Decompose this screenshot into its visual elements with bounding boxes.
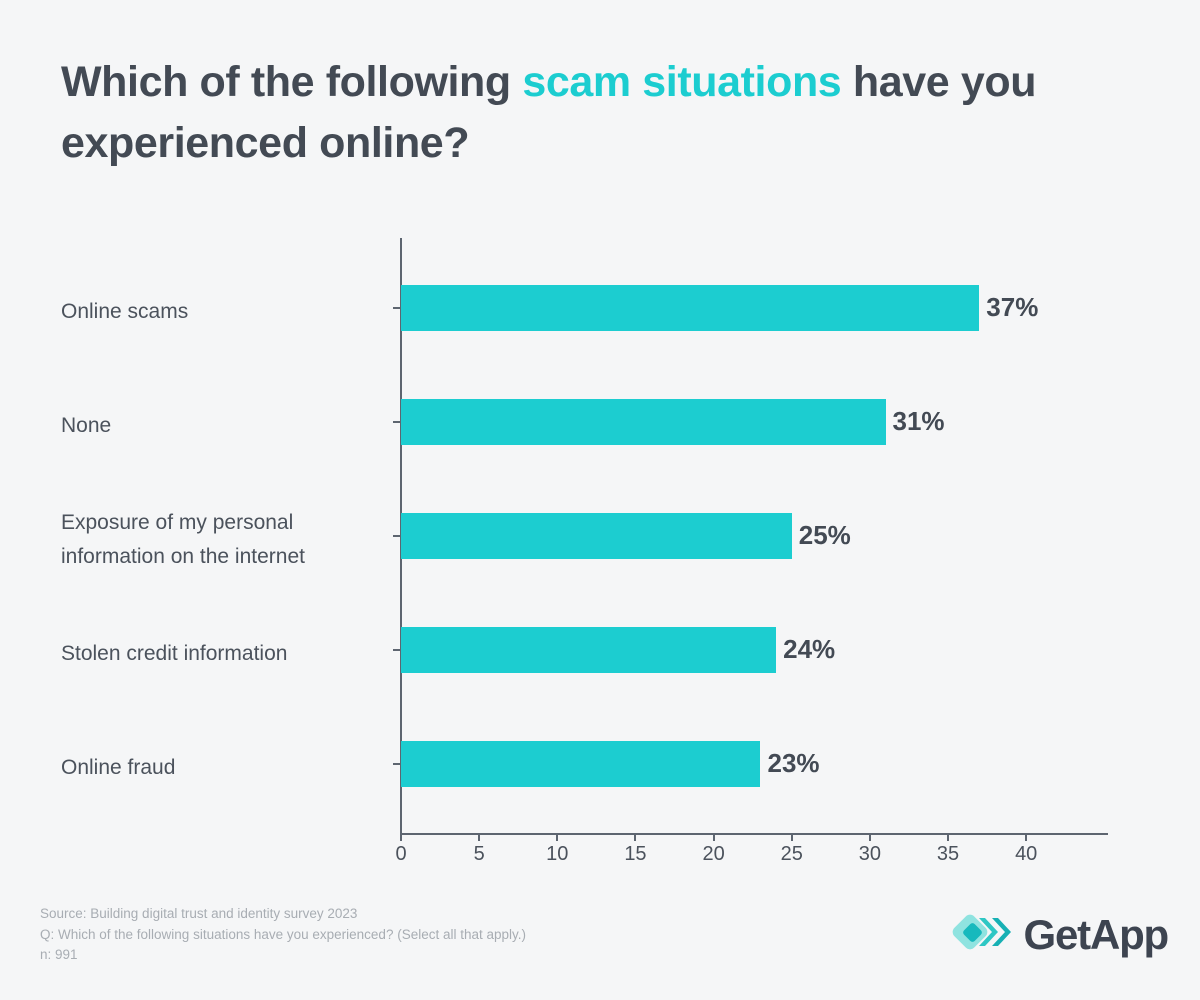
category-label: None — [61, 409, 391, 443]
x-tick-mark — [947, 833, 949, 841]
bar — [401, 513, 792, 559]
bar-value-label: 25% — [799, 520, 851, 551]
x-tick-mark — [1025, 833, 1027, 841]
x-tick-mark — [556, 833, 558, 841]
category-tick — [393, 649, 401, 651]
x-tick-label: 25 — [781, 843, 803, 866]
bar — [401, 399, 886, 445]
category-tick — [393, 307, 401, 309]
x-tick-label: 0 — [395, 843, 406, 866]
bar-row: Stolen credit information24% — [0, 627, 1200, 673]
x-tick-label: 40 — [1015, 843, 1037, 866]
category-label: Stolen credit information — [61, 637, 391, 671]
footnote-question: Q: Which of the following situations hav… — [40, 925, 526, 946]
x-tick-label: 30 — [859, 843, 881, 866]
category-tick — [393, 421, 401, 423]
x-axis-line — [400, 833, 1108, 835]
footnote: Source: Building digital trust and ident… — [40, 904, 526, 966]
x-tick-mark — [400, 833, 402, 841]
category-label: Exposure of my personal information on t… — [61, 506, 391, 573]
category-label: Online scams — [61, 295, 391, 329]
bar-value-label: 37% — [986, 292, 1038, 323]
bar-row: Online scams37% — [0, 285, 1200, 331]
bar-value-label: 31% — [893, 406, 945, 437]
x-tick-mark — [634, 833, 636, 841]
x-tick-label: 20 — [702, 843, 724, 866]
x-tick-mark — [478, 833, 480, 841]
bar — [401, 285, 979, 331]
x-tick-mark — [713, 833, 715, 841]
x-tick-mark — [791, 833, 793, 841]
x-tick-label: 15 — [624, 843, 646, 866]
x-tick-label: 35 — [937, 843, 959, 866]
footnote-source: Source: Building digital trust and ident… — [40, 904, 526, 925]
x-tick-label: 10 — [546, 843, 568, 866]
bar-value-label: 23% — [767, 748, 819, 779]
category-tick — [393, 763, 401, 765]
bar-row: Exposure of my personal information on t… — [0, 513, 1200, 559]
footnote-sample-size: n: 991 — [40, 945, 526, 966]
bar-row: None31% — [0, 399, 1200, 445]
getapp-logo: GetApp — [952, 908, 1168, 961]
category-tick — [393, 535, 401, 537]
bar-chart: Online scams37%None31%Exposure of my per… — [0, 0, 1200, 1000]
bar-value-label: 24% — [783, 634, 835, 665]
category-label: Online fraud — [61, 751, 391, 785]
getapp-wordmark: GetApp — [1024, 911, 1168, 959]
x-tick-label: 5 — [474, 843, 485, 866]
bar — [401, 627, 776, 673]
bar-row: Online fraud23% — [0, 741, 1200, 787]
getapp-mark-icon — [952, 908, 1016, 961]
x-tick-mark — [869, 833, 871, 841]
bar — [401, 741, 760, 787]
